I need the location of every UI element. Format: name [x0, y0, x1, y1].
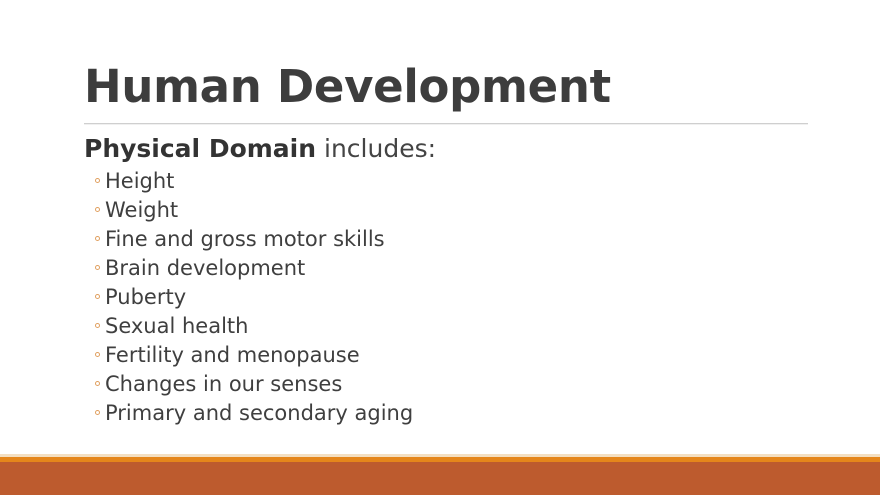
list-item: Puberty: [84, 283, 808, 312]
list-item-label: Fertility and menopause: [105, 343, 360, 367]
list-item: Height: [84, 167, 808, 196]
body-content: Physical Domain includes: Height Weight …: [84, 134, 808, 428]
footer-main-band: [0, 462, 880, 495]
lead-line-rest: includes:: [316, 134, 436, 163]
list-item: Primary and secondary aging: [84, 399, 808, 428]
hollow-circle-bullet-icon: [95, 381, 100, 386]
page-title: Human Development: [84, 62, 808, 112]
list-item: Changes in our senses: [84, 370, 808, 399]
list-item: Sexual health: [84, 312, 808, 341]
list-item-label: Height: [105, 169, 174, 193]
footer-bar: [0, 454, 880, 495]
hollow-circle-bullet-icon: [95, 352, 100, 357]
hollow-circle-bullet-icon: [95, 294, 100, 299]
slide-canvas: Human Development Physical Domain includ…: [0, 0, 880, 495]
list-item: Weight: [84, 196, 808, 225]
list-item-label: Primary and secondary aging: [105, 401, 413, 425]
hollow-circle-bullet-icon: [95, 178, 100, 183]
list-item-label: Brain development: [105, 256, 305, 280]
list-item-label: Sexual health: [105, 314, 248, 338]
list-item-label: Fine and gross motor skills: [105, 227, 385, 251]
list-item: Fertility and menopause: [84, 341, 808, 370]
list-item-label: Changes in our senses: [105, 372, 342, 396]
list-item: Fine and gross motor skills: [84, 225, 808, 254]
hollow-circle-bullet-icon: [95, 207, 100, 212]
lead-line: Physical Domain includes:: [84, 134, 808, 164]
lead-line-strong: Physical Domain: [84, 134, 316, 163]
hollow-circle-bullet-icon: [95, 265, 100, 270]
title-block: Human Development: [84, 62, 808, 112]
bullet-list: Height Weight Fine and gross motor skill…: [84, 167, 808, 428]
title-divider: [84, 123, 808, 125]
hollow-circle-bullet-icon: [95, 410, 100, 415]
list-item: Brain development: [84, 254, 808, 283]
list-item-label: Puberty: [105, 285, 186, 309]
hollow-circle-bullet-icon: [95, 323, 100, 328]
list-item-label: Weight: [105, 198, 178, 222]
hollow-circle-bullet-icon: [95, 236, 100, 241]
